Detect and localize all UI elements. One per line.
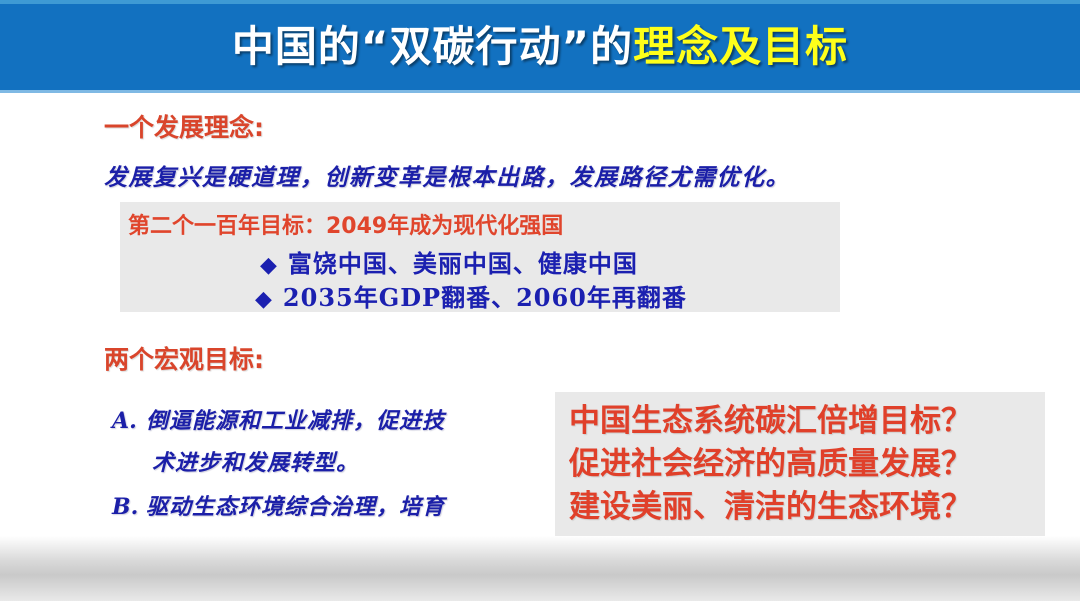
- diamond-bullet-icon: ◆: [260, 252, 278, 278]
- question-callout-panel: 中国生态系统碳汇倍增目标？ 促进社会经济的高质量发展？ 建设美丽、清洁的生态环境…: [555, 392, 1045, 536]
- goal-bullet-label: 富饶中国、美丽中国、健康中国: [288, 249, 638, 278]
- macro-goal-line-1: 驱动生态环境综合治理，培育: [146, 494, 445, 520]
- question-line: 建设美丽、清洁的生态环境？: [569, 486, 1045, 529]
- section-heading-macro-goals: 两个宏观目标:: [104, 340, 264, 376]
- macro-goal-label: B.: [112, 486, 146, 528]
- goal-bullet-item: ◆2035年GDP翻番、2060年再翻番: [255, 278, 687, 313]
- goal-bullet-item: ◆富饶中国、美丽中国、健康中国: [260, 244, 638, 279]
- macro-goal-line-2: 术进步和发展转型。: [112, 442, 542, 484]
- goal-bullet-label: 2035年GDP翻番、2060年再翻番: [283, 283, 687, 312]
- macro-goal-label: A.: [112, 400, 146, 442]
- idea-statement: 发展复兴是硬道理，创新变革是根本出路，发展路径尤需优化。: [104, 158, 790, 192]
- question-line: 中国生态系统碳汇倍增目标？: [569, 400, 1045, 443]
- centenary-goal-panel: 第二个一百年目标：2049年成为现代化强国 ◆富饶中国、美丽中国、健康中国 ◆2…: [120, 202, 840, 312]
- diamond-bullet-icon: ◆: [255, 286, 273, 312]
- slide-footer-gradient: [0, 536, 1080, 601]
- slide-header-bar: 中国的“双碳行动”的理念及目标: [0, 0, 1080, 93]
- macro-goal-item-a: A.倒逼能源和工业减排，促进技 术进步和发展转型。: [112, 400, 542, 484]
- page-title-yellow-part: 理念及目标: [633, 22, 848, 71]
- page-title: 中国的“双碳行动”的理念及目标: [232, 26, 848, 68]
- section-heading-idea: 一个发展理念:: [104, 108, 264, 144]
- question-line: 促进社会经济的高质量发展？: [569, 443, 1045, 486]
- slide-canvas: 中国的“双碳行动”的理念及目标 一个发展理念: 发展复兴是硬道理，创新变革是根本…: [0, 0, 1080, 601]
- centenary-goal-title: 第二个一百年目标：2049年成为现代化强国: [128, 208, 563, 240]
- macro-goal-line-1: 倒逼能源和工业减排，促进技: [146, 408, 445, 434]
- page-title-white-part: 中国的“双碳行动”的: [232, 22, 633, 71]
